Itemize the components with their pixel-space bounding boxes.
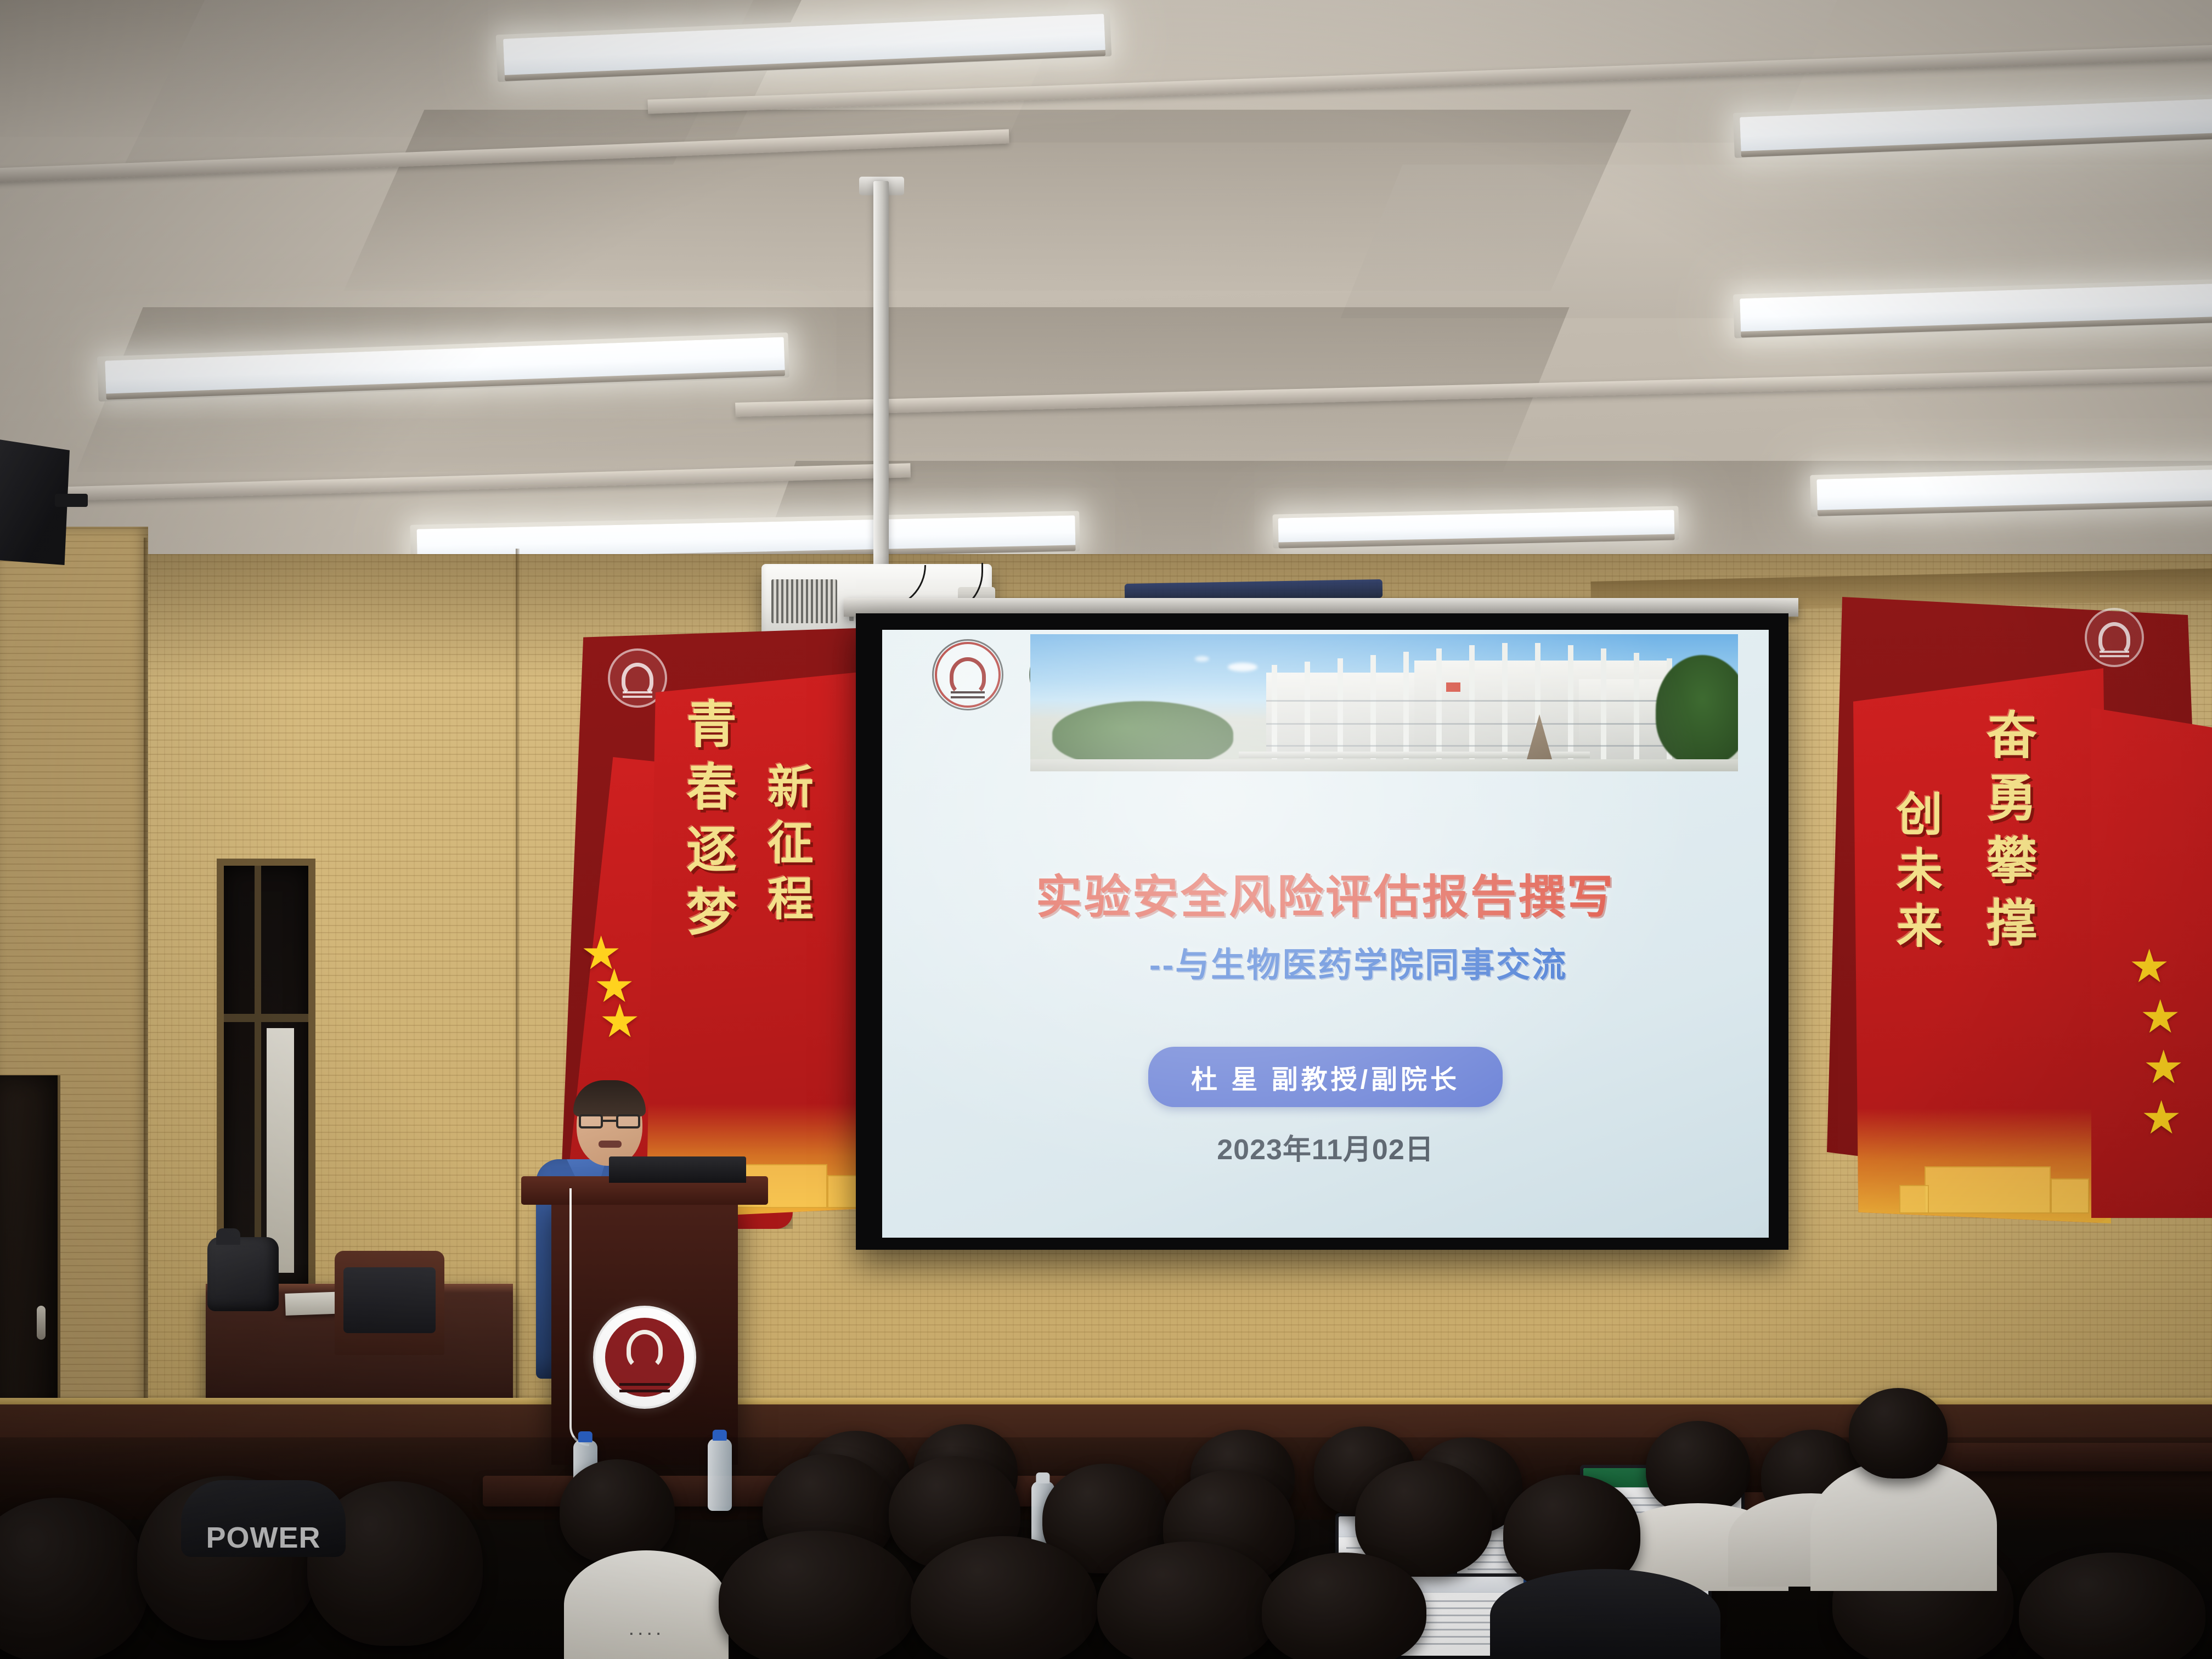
slide-title: 实验安全风险评估报告撰写 xyxy=(882,860,1769,927)
projector-pole xyxy=(873,181,889,571)
ceiling xyxy=(0,0,2212,647)
emblem-motif xyxy=(627,1330,663,1369)
window-mullion-vertical xyxy=(255,866,261,1285)
glasses-lens-right xyxy=(616,1114,640,1128)
gdut-emblem-icon xyxy=(935,642,1001,708)
podium-laptop xyxy=(609,1156,746,1183)
stage-chair xyxy=(335,1251,444,1355)
audience-shoulders-white xyxy=(564,1550,729,1659)
audience-head-front xyxy=(1262,1553,1426,1659)
audience-head-front xyxy=(0,1498,148,1659)
narrow-window xyxy=(217,859,315,1292)
emblem-baselines xyxy=(619,1383,670,1386)
bottle-cap-2 xyxy=(713,1430,727,1441)
banner-right-line1: 奋勇攀撑 xyxy=(1980,709,2033,1071)
backpack xyxy=(207,1237,279,1311)
bottle-cap-4 xyxy=(1036,1472,1049,1483)
banner-right-star-3: ★ xyxy=(2143,1040,2184,1094)
banner-right-star-2: ★ xyxy=(2140,990,2181,1043)
audience-shirt-print: . . . . xyxy=(574,1622,716,1639)
campus-building-photo xyxy=(1030,634,1738,771)
audience-head-front xyxy=(1097,1542,1278,1659)
banner-right-star-4: ★ xyxy=(2141,1091,2182,1144)
door-handle-icon[interactable] xyxy=(37,1306,46,1340)
chair-seat-pad xyxy=(343,1267,436,1333)
microphone-cable xyxy=(569,1188,589,1446)
audience-shoulders-white-right xyxy=(1810,1459,1997,1591)
audience-cap-print: POWER xyxy=(181,1521,346,1555)
campus-flag-icon xyxy=(1446,682,1460,692)
projector-vent xyxy=(771,579,837,623)
wall-seam-2 xyxy=(516,549,520,1404)
presenter-hair xyxy=(573,1080,646,1116)
window-lit-glass xyxy=(267,1028,294,1273)
audience-head-front xyxy=(911,1536,1097,1659)
audience-shoulders-black xyxy=(1490,1569,1720,1659)
banner-right-skyline xyxy=(1853,1108,2111,1223)
slide-subtitle: --与生物医药学院同事交流 xyxy=(882,937,1769,986)
audience-head-front xyxy=(719,1531,916,1659)
banner-right-seal-icon xyxy=(2085,608,2144,667)
banner-left-star-3: ★ xyxy=(599,994,640,1048)
slide-presenter-badge: 杜 星 副教授/副院长 xyxy=(1148,1047,1503,1107)
water-bottle-2 xyxy=(708,1438,732,1511)
glasses-lens-left xyxy=(579,1114,603,1128)
banner-left-line2: 新征程 xyxy=(763,763,810,1053)
wall-seam-1 xyxy=(144,538,148,1470)
university-emblem-icon xyxy=(593,1306,696,1409)
window-mullion-horizontal xyxy=(224,1014,308,1022)
presenter-glasses-icon xyxy=(579,1114,640,1128)
audience-head-front xyxy=(2019,1553,2205,1659)
audience-head xyxy=(560,1459,675,1564)
slide-date: 2023年11月02日 xyxy=(882,1126,1769,1167)
presenter-mouth xyxy=(599,1141,622,1148)
audience-head xyxy=(1646,1421,1750,1514)
presentation-slide: 实验安全风险评估报告撰写 --与生物医药学院同事交流 杜 星 副教授/副院长 2… xyxy=(882,630,1769,1238)
bottle-cap-1 xyxy=(578,1431,592,1442)
emblem-outer-ring xyxy=(932,639,1003,710)
banner-right-line2: 创未来 xyxy=(1892,790,1939,1064)
lecture-hall-photo: ★ ★ ★ 青春逐梦 新征程 奋勇攀撑 创未来 ★ ★ ★ ★ xyxy=(0,0,2212,1659)
audience-head xyxy=(1849,1388,1948,1479)
banner-left-line1: 青春逐梦 xyxy=(680,698,733,1049)
speaker-bracket xyxy=(55,494,88,507)
banner-right-star-1: ★ xyxy=(2129,939,2170,993)
glasses-bridge xyxy=(603,1120,616,1122)
